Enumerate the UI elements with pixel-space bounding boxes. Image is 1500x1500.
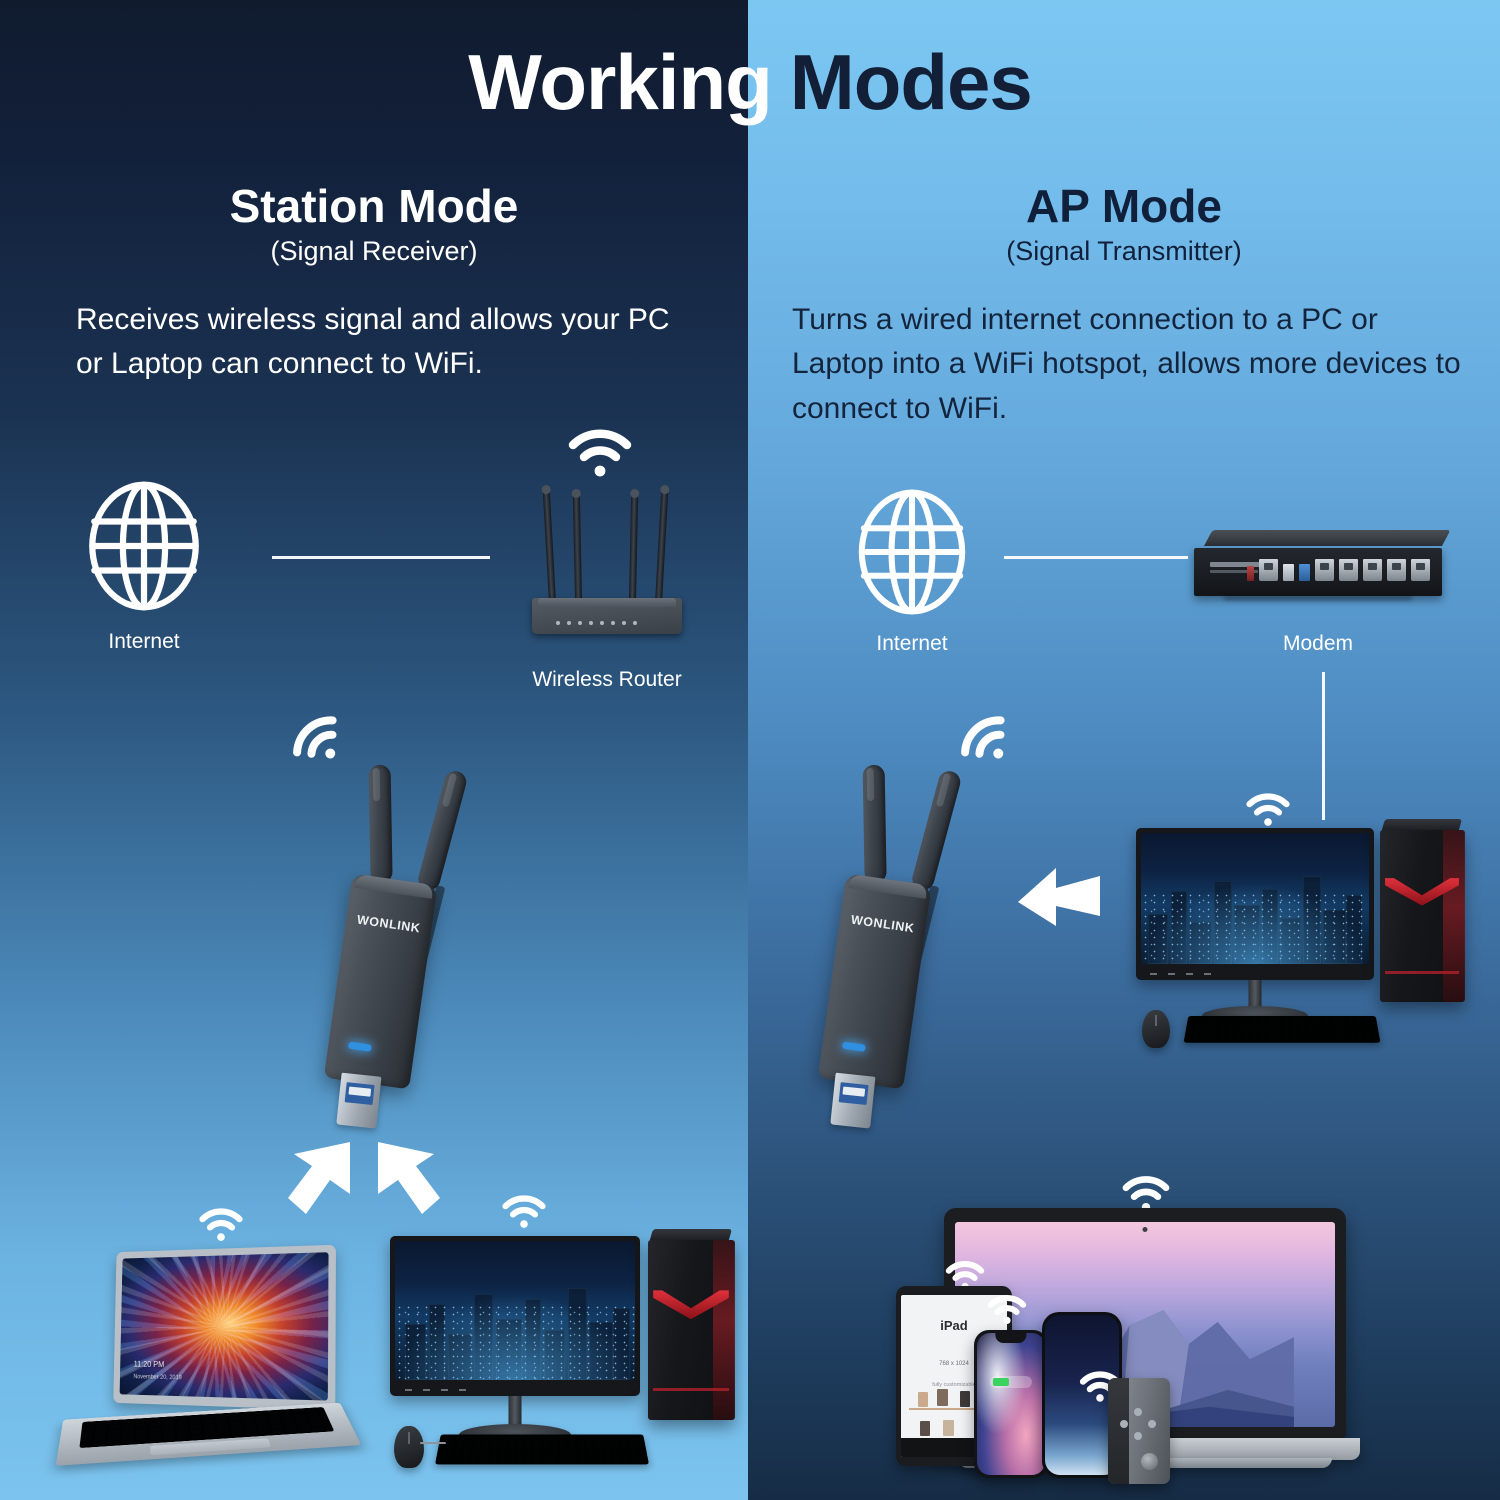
mouse-cord-left — [420, 1442, 446, 1444]
desktop-monitor-left — [390, 1236, 640, 1436]
station-mode-description: Receives wireless signal and allows your… — [76, 298, 696, 387]
modem-label: Modem — [1238, 632, 1398, 656]
laptop-clock: 11:20 PM November 20, 2019 — [133, 1359, 182, 1383]
pc-tower-right — [1380, 830, 1464, 1002]
globe-icon-right — [846, 486, 978, 618]
wifi-icon-monitor-right — [1244, 790, 1292, 828]
page-title: WorkingModes — [0, 34, 1500, 130]
infographic-stage: WorkingModes Station Mode (Signal Receiv… — [0, 0, 1500, 1500]
station-mode-heading: Station Mode (Signal Receiver) — [0, 182, 748, 267]
desktop-monitor-right — [1136, 828, 1374, 1018]
ap-mode-description: Turns a wired internet connection to a P… — [792, 298, 1464, 431]
keyboard-right — [1184, 1016, 1381, 1043]
station-mode-subtitle: (Signal Receiver) — [0, 236, 748, 267]
keyboard-left — [435, 1434, 649, 1464]
title-word-working: Working — [468, 38, 772, 126]
wifi-icon-laptop — [197, 1205, 245, 1243]
ap-mode-heading: AP Mode (Signal Transmitter) — [748, 182, 1500, 267]
ap-mode-subtitle: (Signal Transmitter) — [748, 236, 1500, 267]
mouse-left — [394, 1426, 424, 1468]
wireless-router — [532, 482, 682, 634]
wireless-router-label: Wireless Router — [507, 668, 707, 692]
internet-label-left: Internet — [76, 630, 212, 654]
title-word-modes: Modes — [790, 38, 1032, 126]
ap-mode-title: AP Mode — [748, 182, 1500, 230]
arrow-icon-down-left — [286, 1136, 354, 1220]
modem-pc-connector — [1322, 672, 1325, 820]
mouse-right — [1142, 1010, 1170, 1048]
laptop-device: 11:20 PM November 20, 2019 — [62, 1248, 354, 1468]
wifi-icon-phone — [986, 1292, 1028, 1326]
modem-device — [1194, 530, 1442, 596]
internet-modem-connector — [1004, 556, 1188, 559]
globe-icon — [76, 478, 212, 614]
arrow-icon-down-right — [374, 1136, 442, 1220]
arrow-icon-left — [1016, 862, 1102, 932]
game-console-device — [1108, 1378, 1170, 1484]
adapter-brand-left: WONLINK — [345, 911, 432, 937]
internet-router-connector — [272, 556, 490, 559]
station-mode-title: Station Mode — [0, 182, 748, 230]
adapter-brand-right: WONLINK — [839, 911, 926, 937]
pc-tower-left — [648, 1240, 734, 1420]
wifi-icon-router — [565, 425, 635, 479]
phone-device-iphone — [974, 1330, 1048, 1478]
wifi-icon-monitor-left — [500, 1192, 548, 1230]
internet-label-right: Internet — [846, 632, 978, 656]
